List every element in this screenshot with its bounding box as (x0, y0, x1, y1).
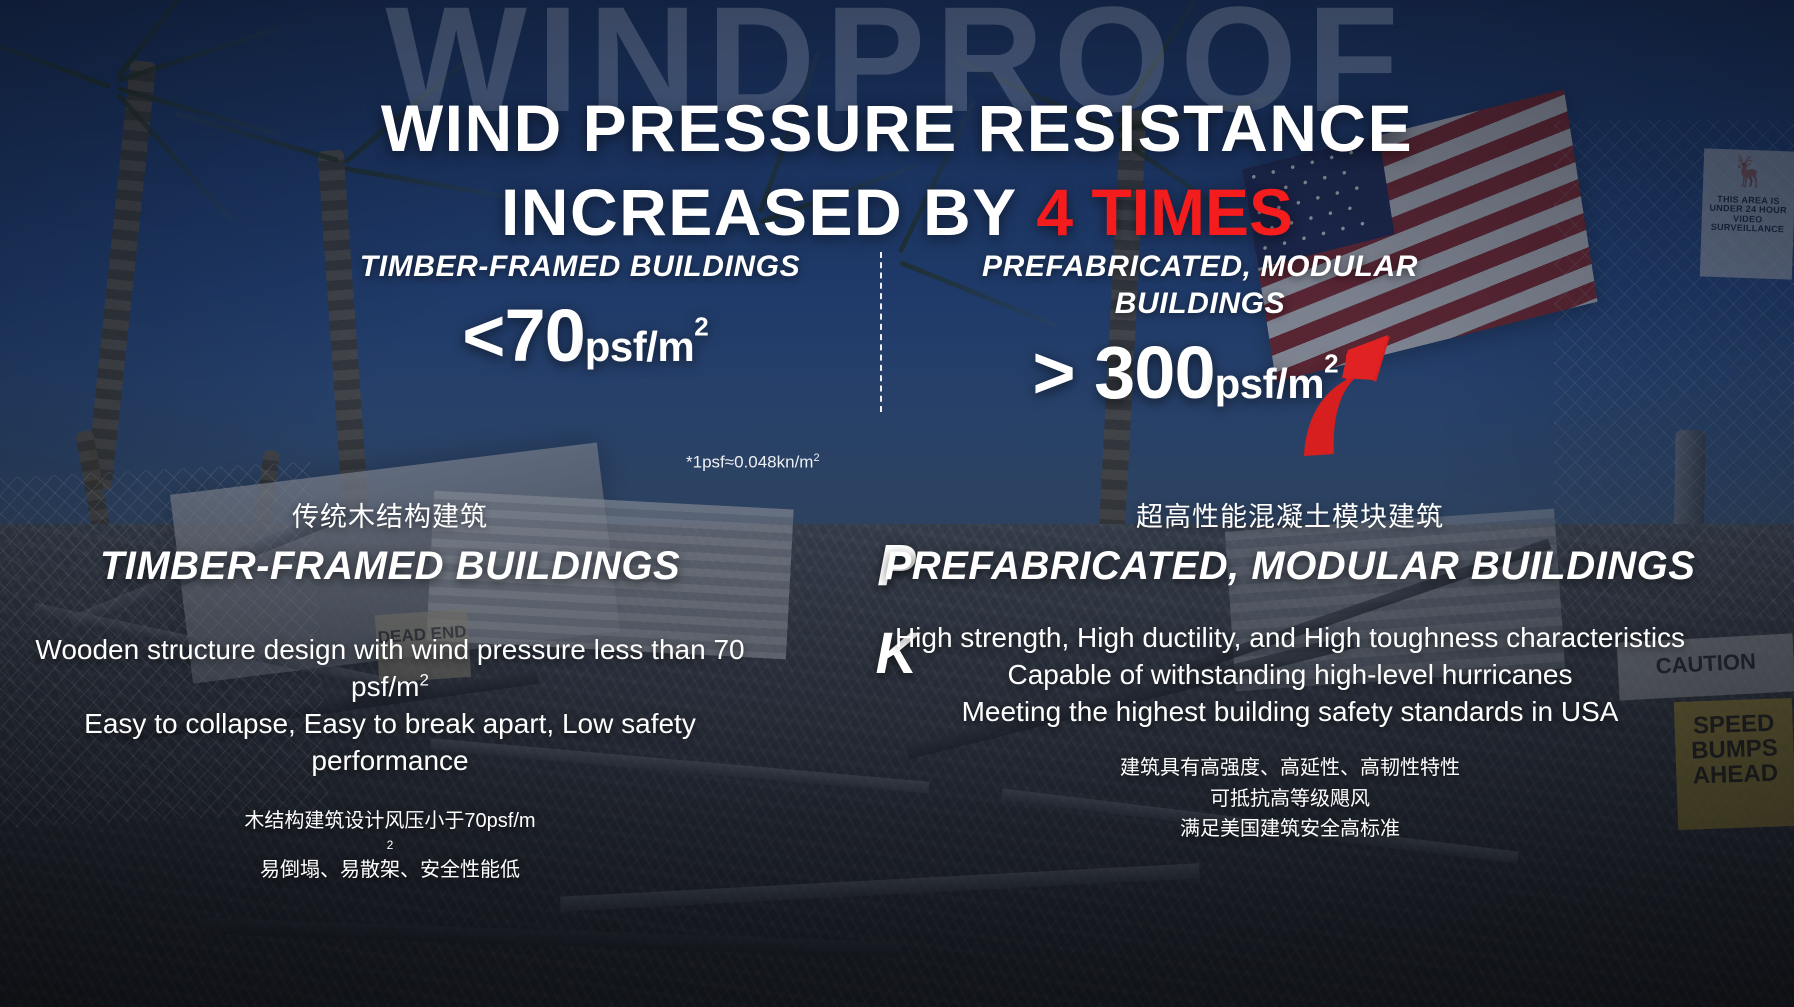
left-body-line-2: Easy to collapse, Easy to break apart, L… (84, 708, 696, 776)
left-cn-foot-exponent: 2 (10, 836, 770, 854)
footnote-text: *1psf≈0.048kn/m (686, 453, 813, 472)
left-body-line-1: Wooden structure design with wind pressu… (35, 634, 744, 702)
right-chinese-footer: 建筑具有高强度、高延性、高韧性特性 可抵抗高等级飓风 满足美国建筑安全高标准 (880, 753, 1700, 844)
detail-column-left: 传统木结构建筑 TIMBER-FRAMED BUILDINGS Wooden s… (10, 500, 770, 885)
right-body-line-2: Capable of withstanding high-level hurri… (1007, 659, 1572, 690)
left-unit: psf/m (585, 323, 695, 370)
headline-line-1: WIND PRESSURE RESISTANCE (381, 91, 1413, 165)
vertical-dashed-divider (880, 252, 882, 412)
right-chinese-title: 超高性能混凝土模块建筑 (880, 500, 1700, 535)
comparison-column-right: PREFABRICATED, MODULAR BUILDINGS > 300ps… (900, 248, 1500, 410)
footnote-exponent: 2 (813, 452, 819, 464)
comparison-right-title: PREFABRICATED, MODULAR BUILDINGS (900, 248, 1500, 322)
headline-accent: 4 TIMES (1036, 175, 1293, 249)
left-operator: < (462, 294, 504, 377)
content-layer: WIND PRESSURE RESISTANCE INCREASED BY 4 … (0, 0, 1794, 1007)
left-cn-foot-line-2: 易倒塌、易散架、安全性能低 (10, 855, 770, 885)
page-title: WIND PRESSURE RESISTANCE INCREASED BY 4 … (0, 86, 1794, 255)
right-body-line-1: High strength, High ductility, and High … (895, 622, 1685, 653)
comparison-right-value: > 300psf/m2 (900, 336, 1500, 410)
left-english-title: TIMBER-FRAMED BUILDINGS (10, 543, 770, 590)
right-english-title: PREFABRICATED, MODULAR BUILDINGS (880, 543, 1700, 590)
infographic-slide: 🦌 THIS AREA IS UNDER 24 HOUR VIDEO SURVE… (0, 0, 1794, 1007)
left-body-text: Wooden structure design with wind pressu… (10, 632, 770, 780)
right-cn-foot-line-1: 建筑具有高强度、高延性、高韧性特性 (880, 753, 1700, 783)
left-unit-exponent: 2 (694, 312, 707, 342)
right-number: 300 (1094, 331, 1214, 414)
headline-line-2-prefix: INCREASED BY (501, 175, 1036, 249)
comparison-header: TIMBER-FRAMED BUILDINGS <70psf/m2 PREFAB… (0, 248, 1794, 428)
headline-line-2: INCREASED BY 4 TIMES (0, 170, 1794, 254)
left-cn-foot-line-1: 木结构建筑设计风压小于70psf/m (10, 806, 770, 836)
comparison-column-left: TIMBER-FRAMED BUILDINGS <70psf/m2 (300, 248, 860, 373)
right-body-line-3: Meeting the highest building safety stan… (962, 696, 1619, 727)
left-cn-foot-line-1-wrap: 木结构建筑设计风压小于70psf/m2 (10, 806, 770, 855)
right-body-text: High strength, High ductility, and High … (880, 620, 1700, 731)
psf-conversion-footnote: *1psf≈0.048kn/m2 (686, 452, 906, 473)
comparison-left-value: <70psf/m2 (300, 299, 860, 373)
left-body-line-1-exponent: 2 (420, 671, 429, 690)
red-up-arrow-icon (1290, 330, 1410, 460)
right-cn-foot-line-2: 可抵抗高等级飓风 (880, 784, 1700, 814)
left-chinese-footer: 木结构建筑设计风压小于70psf/m2 易倒塌、易散架、安全性能低 (10, 806, 770, 885)
right-cn-foot-line-3: 满足美国建筑安全高标准 (880, 814, 1700, 844)
right-operator: > (1032, 331, 1074, 414)
comparison-left-title: TIMBER-FRAMED BUILDINGS (300, 248, 860, 285)
left-chinese-title: 传统木结构建筑 (10, 500, 770, 535)
detail-column-right: 超高性能混凝土模块建筑 PREFABRICATED, MODULAR BUILD… (880, 500, 1700, 844)
left-number: 70 (504, 294, 584, 377)
